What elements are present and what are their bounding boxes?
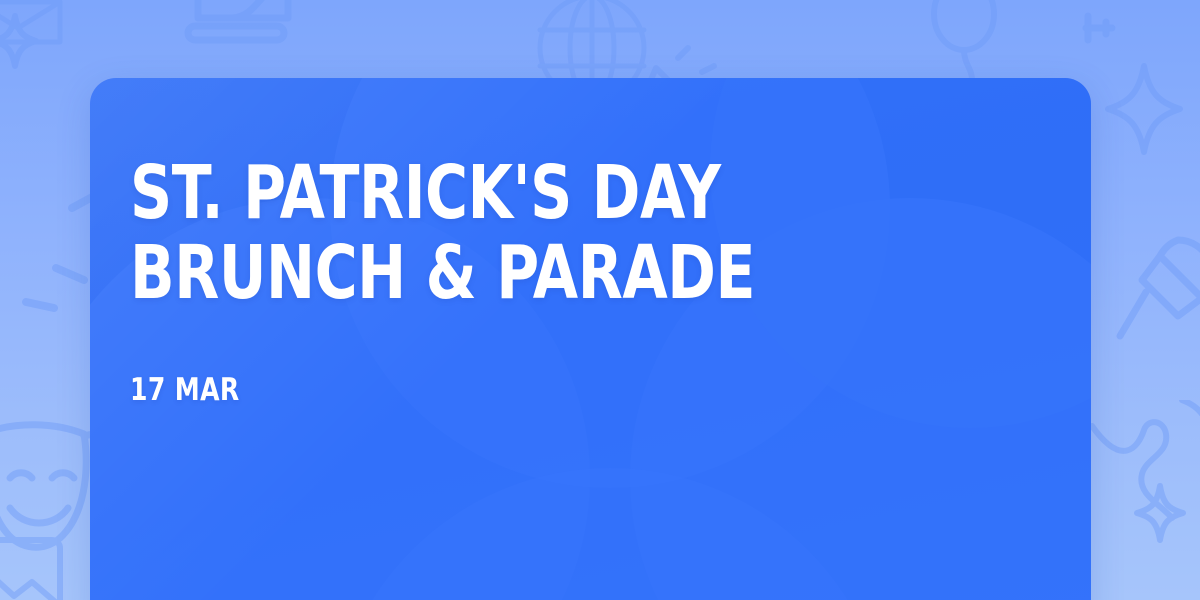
confetti-icon (1076, 6, 1140, 50)
microphone-icon (1116, 232, 1200, 382)
event-title: ST. PATRICK'S DAY BRUNCH & PARADE (130, 154, 923, 314)
event-card-content: ST. PATRICK'S DAY BRUNCH & PARADE 17 MAR (130, 154, 1031, 408)
sparkle-icon (0, 10, 42, 70)
ticket-icon (0, 0, 66, 58)
event-date: 17 MAR (130, 372, 941, 408)
card-decor-circle (330, 468, 890, 600)
event-banner-page: ST. PATRICK'S DAY BRUNCH & PARADE 17 MAR (0, 0, 1200, 600)
event-card[interactable]: ST. PATRICK'S DAY BRUNCH & PARADE 17 MAR (90, 78, 1091, 600)
balloon-icon (920, 0, 1024, 88)
ice-skate-icon (172, 0, 298, 68)
streamer-icon (1086, 400, 1200, 600)
picture-frame-icon (0, 530, 76, 600)
sparkle-icon (1104, 58, 1186, 160)
sparkle-icon (1130, 480, 1190, 546)
confetti-icon (0, 180, 104, 380)
